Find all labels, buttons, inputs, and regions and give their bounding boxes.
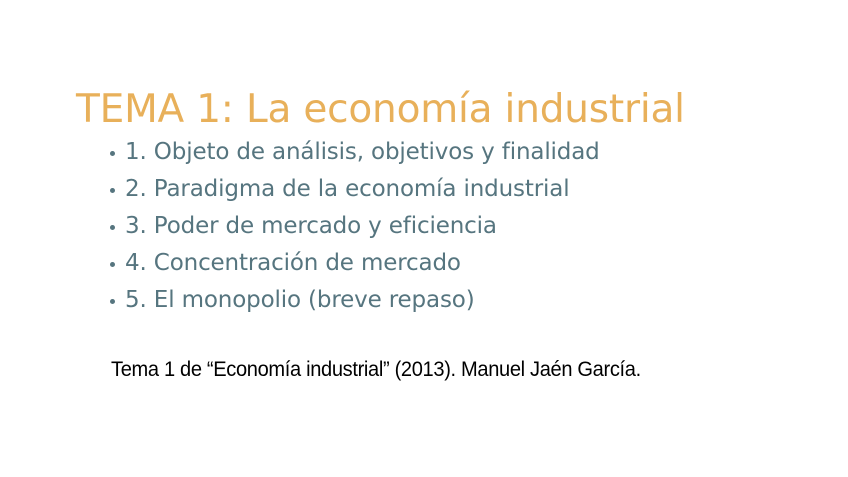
list-item-label: 5. El monopolio (breve repaso) [125,287,475,313]
list-item[interactable]: 3. Poder de mercado y eficiencia [110,208,770,245]
bullet-dot-icon [110,151,115,156]
list-item-label: 4. Concentración de mercado [125,250,461,276]
list-item-label: 2. Paradigma de la economía industrial [125,176,570,202]
bullet-dot-icon [110,188,115,193]
list-item[interactable]: 1. Objeto de análisis, objetivos y final… [110,134,770,171]
list-item[interactable]: 5. El monopolio (breve repaso) [110,282,770,319]
bullet-dot-icon [110,225,115,230]
source-attribution: Tema 1 de “Economía industrial” (2013). … [111,357,780,383]
slide-canvas: TEMA 1: La economía industrial 1. Objeto… [0,0,848,477]
list-item-label: 3. Poder de mercado y eficiencia [125,213,497,239]
bullet-dot-icon [110,262,115,267]
bullet-dot-icon [110,299,115,304]
list-item-label: 1. Objeto de análisis, objetivos y final… [125,139,600,165]
table-of-contents-list: 1. Objeto de análisis, objetivos y final… [110,134,770,319]
list-item[interactable]: 2. Paradigma de la economía industrial [110,171,770,208]
page-title: TEMA 1: La economía industrial [76,86,776,133]
list-item[interactable]: 4. Concentración de mercado [110,245,770,282]
